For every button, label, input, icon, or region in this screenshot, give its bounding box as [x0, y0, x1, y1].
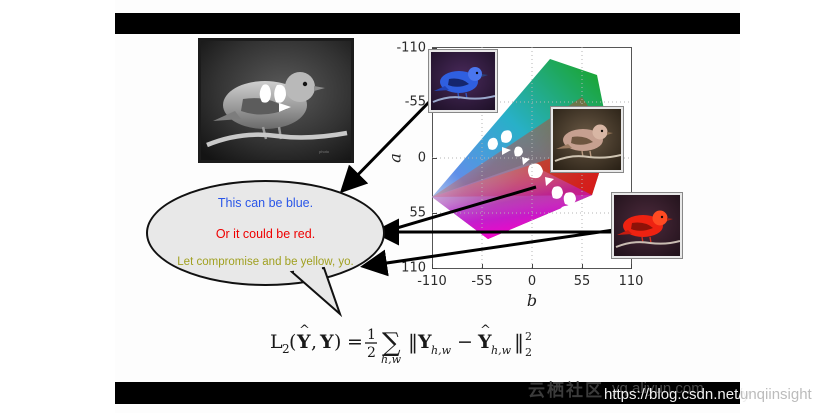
- x-axis-label: b: [527, 291, 537, 310]
- xtick-label: 55: [574, 274, 591, 289]
- svg-text:^: ^: [480, 323, 491, 338]
- ytick-mark: [432, 213, 437, 214]
- xtick-mark: [532, 264, 533, 269]
- svg-text:h,w: h,w: [491, 344, 512, 357]
- xtick-label: 0: [528, 274, 536, 289]
- xtick-label: -110: [417, 274, 447, 289]
- blue-bird-svg: [431, 52, 495, 110]
- watermark-url: https://blog.csdn.net/y: [604, 386, 750, 403]
- xtick-mark: [432, 264, 433, 269]
- svg-text:photo: photo: [319, 149, 330, 154]
- xtick-mark: [482, 264, 483, 269]
- svg-text:2: 2: [525, 346, 532, 359]
- xtick-mark: [631, 264, 632, 269]
- svg-text:‖: ‖: [408, 330, 418, 355]
- watermark-cn: 云栖社区: [528, 376, 604, 401]
- ytick-mark: [432, 48, 437, 49]
- ytick-label: 0: [418, 151, 426, 166]
- svg-text:−: −: [457, 331, 473, 353]
- svg-text:Y: Y: [417, 331, 432, 353]
- watermark-url-tail: unqiinsight: [740, 386, 812, 403]
- svg-text:h,w: h,w: [431, 344, 452, 357]
- natural-bird-svg: [553, 109, 621, 170]
- loss-formula-svg: L 2 ( Y ^ , Y ) = 1 2 ∑ h,w ‖ Y h,w − Y …: [262, 318, 592, 364]
- red-bird-svg: [614, 195, 680, 256]
- loss-formula: L 2 ( Y ^ , Y ) = 1 2 ∑ h,w ‖ Y h,w − Y …: [262, 318, 592, 369]
- screenshot-root: photo: [0, 0, 828, 413]
- slide-top-black-bar: [115, 13, 740, 34]
- svg-text:h,w: h,w: [381, 353, 402, 364]
- svg-text:(: (: [289, 331, 296, 353]
- grayscale-bird-svg: photo: [201, 41, 351, 160]
- ytick-label: -55: [405, 95, 426, 110]
- bubble-line-red: Or it could be red.: [148, 227, 383, 241]
- svg-text:2: 2: [525, 330, 532, 343]
- svg-text:=: =: [347, 331, 363, 353]
- inset-natural-bird: [551, 107, 623, 172]
- xtick-label: -55: [471, 274, 492, 289]
- svg-text:Y: Y: [319, 331, 334, 353]
- svg-text:1: 1: [367, 327, 376, 343]
- inset-red-bird: [612, 193, 682, 258]
- svg-text:2: 2: [367, 345, 376, 361]
- svg-text:^: ^: [299, 323, 310, 338]
- svg-text:,: ,: [311, 331, 317, 353]
- ytick-label: 55: [409, 206, 426, 221]
- bubble-line-blue: This can be blue.: [148, 196, 383, 210]
- xtick-mark: [582, 264, 583, 269]
- svg-text:): ): [334, 331, 341, 353]
- speech-bubble-tail: [280, 262, 400, 322]
- ytick-label: -110: [396, 41, 426, 56]
- y-axis-label: a: [386, 153, 405, 163]
- xtick-label: 110: [619, 274, 644, 289]
- grayscale-bird-photo: photo: [198, 38, 354, 163]
- ytick-mark: [432, 158, 437, 159]
- inset-blue-bird: [429, 50, 497, 112]
- svg-text:‖: ‖: [514, 330, 524, 355]
